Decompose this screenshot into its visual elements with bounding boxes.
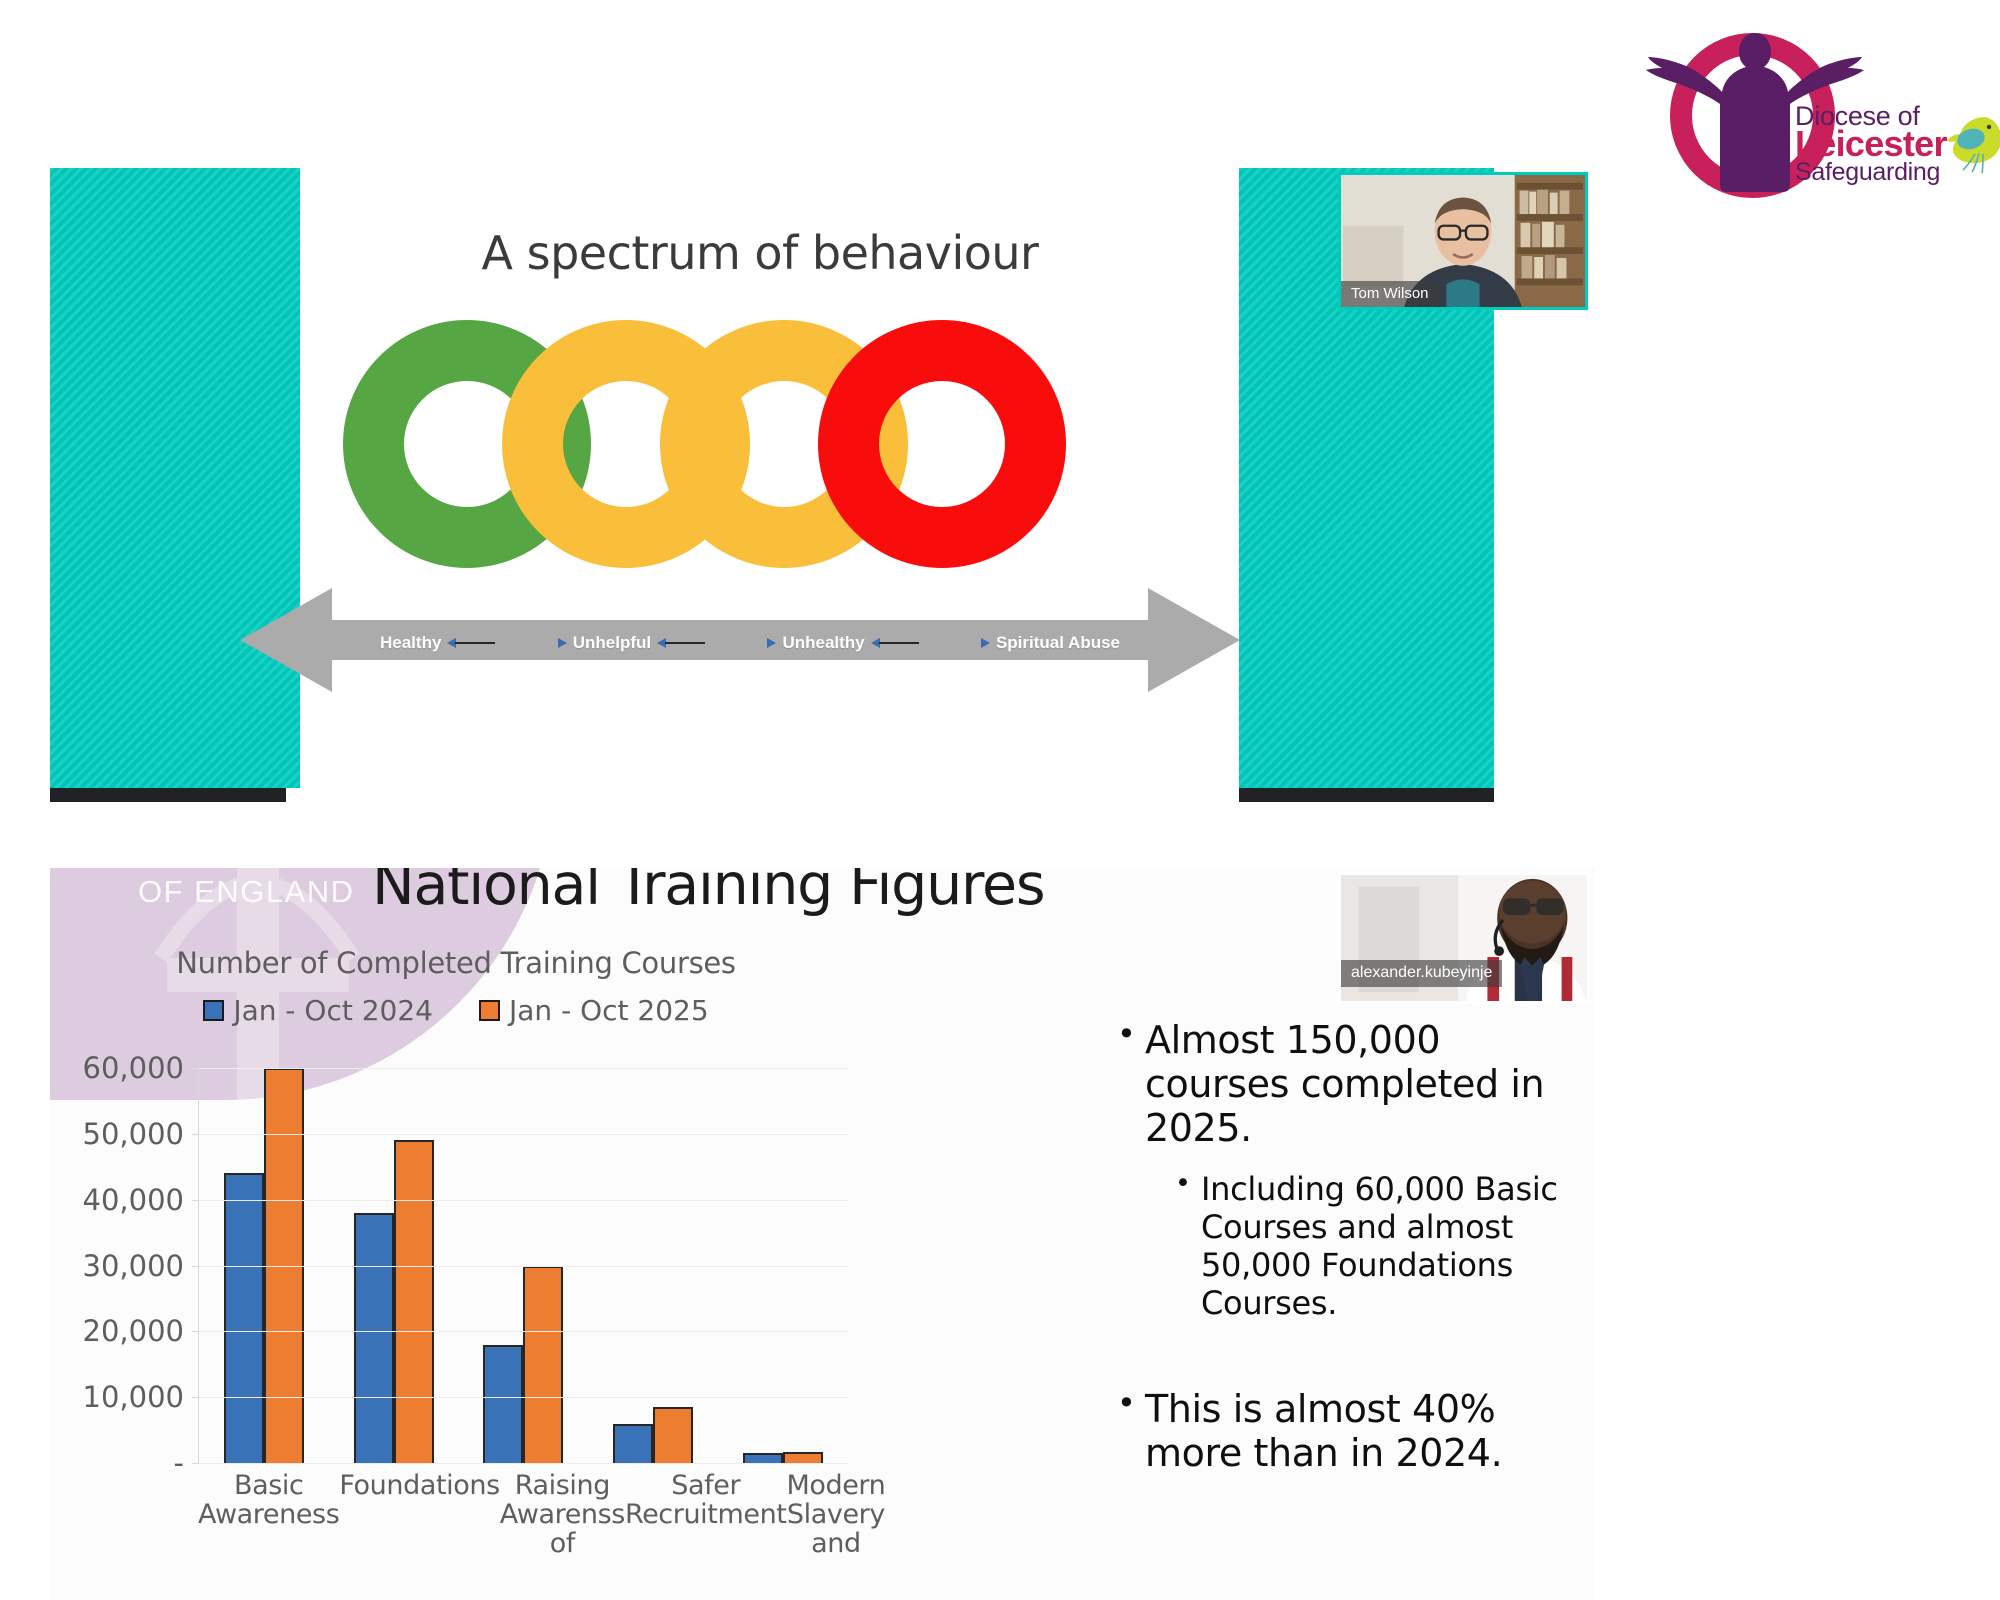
spectrum-label-unhealthy: Unhealthy xyxy=(782,633,864,653)
chart-bar xyxy=(354,1213,394,1463)
chart-bar xyxy=(743,1453,783,1463)
x-tick-label: Foundations xyxy=(339,1471,499,1558)
page-title: National Training Figures xyxy=(372,868,1072,918)
chart-plot-area xyxy=(198,1068,848,1463)
chart-bar xyxy=(483,1345,523,1464)
chart-bar xyxy=(653,1407,693,1463)
x-tick-label: RaisingAwarenss of xyxy=(500,1471,625,1558)
chart-bar xyxy=(613,1424,653,1464)
chart-bar xyxy=(224,1173,264,1463)
spectrum-label-healthy: Healthy xyxy=(380,633,441,653)
x-tick-label: ModernSlavery and xyxy=(786,1471,885,1558)
legend-label-2024: Jan - Oct 2024 xyxy=(233,994,433,1027)
chart-bar xyxy=(523,1266,563,1464)
spiritual-abuse-donut-icon xyxy=(818,320,1066,568)
video-tile-tom-wilson[interactable]: Tom Wilson xyxy=(1338,172,1588,310)
bullet-secondary-1: Including 60,000 Basic Courses and almos… xyxy=(1173,1170,1585,1322)
chart-axis-tick xyxy=(192,1200,199,1201)
chart-axis-tick xyxy=(192,1068,199,1069)
y-tick-label: 20,000 xyxy=(83,1314,184,1348)
legend-item-2025: Jan - Oct 2025 xyxy=(479,994,709,1027)
chart-gridline xyxy=(199,1068,848,1069)
chart-axis-tick xyxy=(192,1266,199,1267)
chart-axis-tick xyxy=(192,1397,199,1398)
chart-x-axis-labels: BasicAwarenessFoundationsRaisingAwarenss… xyxy=(198,1471,848,1558)
logo-bird-icon xyxy=(1945,113,2000,175)
watermark-line-2: OF ENGLAND xyxy=(138,875,358,910)
church-of-england-watermark-text: THE CHURCH OF ENGLAND xyxy=(138,868,358,909)
chart-legend: Jan - Oct 2024 Jan - Oct 2025 xyxy=(50,994,866,1027)
x-tick-label: SaferRecruitment xyxy=(625,1471,787,1558)
chart-axis-tick xyxy=(192,1134,199,1135)
participant-name-badge: alexander.kubeyinje xyxy=(1341,960,1502,987)
spectrum-title: A spectrum of behaviour xyxy=(410,226,1110,280)
legend-item-2024: Jan - Oct 2024 xyxy=(203,994,433,1027)
legend-label-2025: Jan - Oct 2025 xyxy=(509,994,709,1027)
bullet-block-2: This is almost 40% more than in 2024. xyxy=(1115,1387,1585,1475)
video-tile-alexander-kubeyinje[interactable]: alexander.kubeyinje xyxy=(1338,872,1590,1004)
screen-root: Diocese of Leicester Safeguarding A spec… xyxy=(0,0,2000,1600)
spectrum-connector-2 xyxy=(657,636,776,650)
chart-gridline xyxy=(199,1200,848,1201)
training-courses-bar-chart: Number of Completed Training Courses Jan… xyxy=(50,946,866,1596)
teal-panel-footer-right xyxy=(1239,788,1494,802)
y-tick-label: - xyxy=(174,1446,184,1480)
bullet-primary-2: This is almost 40% more than in 2024. xyxy=(1115,1387,1585,1475)
y-tick-label: 40,000 xyxy=(83,1183,184,1217)
bullet-list: Almost 150,000 courses completed in 2025… xyxy=(1115,1018,1585,1475)
spectrum-label-spiritual-abuse: Spiritual Abuse xyxy=(996,633,1120,653)
spectrum-connector-3 xyxy=(871,636,990,650)
chart-y-axis: 60,00050,00040,00030,00020,00010,000- xyxy=(50,1068,192,1463)
chart-bar xyxy=(783,1452,823,1463)
chart-title: Number of Completed Training Courses xyxy=(50,946,866,980)
bullet-primary-1: Almost 150,000 courses completed in 2025… xyxy=(1115,1018,1585,1150)
chart-gridline xyxy=(199,1134,848,1135)
chart-gridline xyxy=(199,1266,848,1267)
chart-axis-tick xyxy=(192,1463,199,1464)
participant-name-badge: Tom Wilson xyxy=(1341,281,1439,307)
chart-gridline xyxy=(199,1463,848,1464)
chart-bar xyxy=(394,1140,434,1463)
diocese-of-leicester-safeguarding-logo: Diocese of Leicester Safeguarding xyxy=(1585,25,1975,205)
y-tick-label: 10,000 xyxy=(83,1380,184,1414)
legend-swatch-2024 xyxy=(203,1000,224,1021)
legend-swatch-2025 xyxy=(479,1000,500,1021)
teal-panel-footer-left xyxy=(50,788,286,802)
y-tick-label: 50,000 xyxy=(83,1117,184,1151)
chart-gridline xyxy=(199,1331,848,1332)
chart-axis-tick xyxy=(192,1331,199,1332)
y-tick-label: 60,000 xyxy=(83,1051,184,1085)
y-tick-label: 30,000 xyxy=(83,1249,184,1283)
spectrum-label-unhelpful: Unhelpful xyxy=(573,633,651,653)
spectrum-connector-1 xyxy=(447,636,566,650)
spectrum-label-row: Healthy Unhelpful Unhealthy Spiritual Ab… xyxy=(380,628,1120,658)
chart-gridline xyxy=(199,1397,848,1398)
chart-plot-wrapper: 60,00050,00040,00030,00020,00010,000- Ba… xyxy=(50,1046,866,1526)
x-tick-label: BasicAwareness xyxy=(198,1471,339,1558)
